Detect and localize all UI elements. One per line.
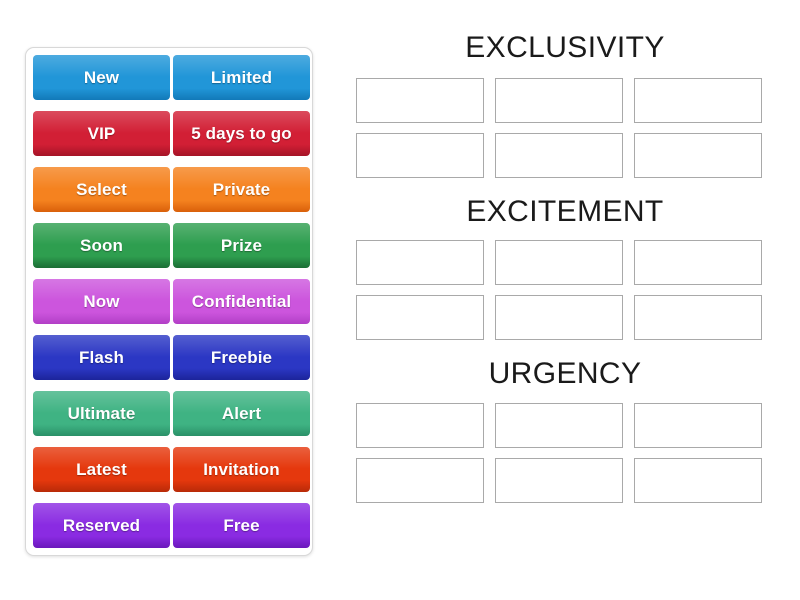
word-tile[interactable]: VIP (33, 111, 170, 156)
word-tile[interactable]: Soon (33, 223, 170, 268)
drop-slot[interactable] (495, 403, 623, 448)
word-tile-label: Select (76, 180, 127, 200)
category-slot-grid (345, 240, 785, 340)
tile-tray: NewLimitedVIP5 days to goSelectPrivateSo… (25, 47, 313, 556)
word-tile-label: Invitation (203, 460, 280, 480)
word-tile[interactable]: Confidential (173, 279, 310, 324)
word-tile-label: Private (213, 180, 270, 200)
drop-slot[interactable] (495, 133, 623, 178)
drop-slot[interactable] (356, 78, 484, 123)
word-tile-label: Soon (80, 236, 123, 256)
word-tile-label: VIP (88, 124, 116, 144)
word-tile-label: Latest (76, 460, 127, 480)
drop-slot[interactable] (634, 240, 762, 285)
drop-slot[interactable] (634, 458, 762, 503)
drop-slot[interactable] (495, 240, 623, 285)
word-tile-label: Freebie (211, 348, 272, 368)
tile-grid: NewLimitedVIP5 days to goSelectPrivateSo… (33, 55, 306, 548)
category-title: EXCITEMENT (345, 196, 785, 228)
word-tile-label: Free (223, 516, 259, 536)
word-tile-label: Alert (222, 404, 261, 424)
word-tile-label: Now (83, 292, 119, 312)
category-exclusivity: EXCLUSIVITY (345, 32, 785, 178)
word-tile-label: Confidential (192, 292, 291, 312)
word-tile-label: Ultimate (68, 404, 136, 424)
drop-slot[interactable] (356, 133, 484, 178)
word-tile[interactable]: New (33, 55, 170, 100)
category-slot-grid (345, 78, 785, 178)
word-tile[interactable]: Flash (33, 335, 170, 380)
word-tile[interactable]: Limited (173, 55, 310, 100)
word-tile[interactable]: Free (173, 503, 310, 548)
drop-slot[interactable] (356, 240, 484, 285)
word-tile-label: Limited (211, 68, 272, 88)
drop-slot[interactable] (495, 458, 623, 503)
drop-slot[interactable] (634, 78, 762, 123)
drop-slot[interactable] (356, 403, 484, 448)
word-tile[interactable]: Invitation (173, 447, 310, 492)
drop-slot[interactable] (495, 295, 623, 340)
word-tile[interactable]: Ultimate (33, 391, 170, 436)
drop-slot[interactable] (634, 403, 762, 448)
word-tile-label: Prize (221, 236, 262, 256)
category-title: URGENCY (345, 358, 785, 390)
word-tile[interactable]: Now (33, 279, 170, 324)
word-tile[interactable]: Reserved (33, 503, 170, 548)
category-urgency: URGENCY (345, 358, 785, 503)
category-excitement: EXCITEMENT (345, 196, 785, 341)
word-tile[interactable]: Alert (173, 391, 310, 436)
word-tile[interactable]: Freebie (173, 335, 310, 380)
word-tile[interactable]: Select (33, 167, 170, 212)
word-tile[interactable]: 5 days to go (173, 111, 310, 156)
drop-slot[interactable] (634, 295, 762, 340)
group-sort-activity: NewLimitedVIP5 days to goSelectPrivateSo… (0, 0, 800, 600)
word-tile[interactable]: Private (173, 167, 310, 212)
word-tile-label: 5 days to go (191, 124, 291, 144)
drop-slot[interactable] (634, 133, 762, 178)
word-tile[interactable]: Prize (173, 223, 310, 268)
category-list: EXCLUSIVITYEXCITEMENTURGENCY (345, 32, 785, 521)
drop-slot[interactable] (356, 295, 484, 340)
drop-slot[interactable] (356, 458, 484, 503)
word-tile-label: Flash (79, 348, 124, 368)
drop-slot[interactable] (495, 78, 623, 123)
category-title: EXCLUSIVITY (345, 32, 785, 64)
word-tile-label: New (84, 68, 119, 88)
word-tile-label: Reserved (63, 516, 140, 536)
word-tile[interactable]: Latest (33, 447, 170, 492)
category-slot-grid (345, 403, 785, 503)
